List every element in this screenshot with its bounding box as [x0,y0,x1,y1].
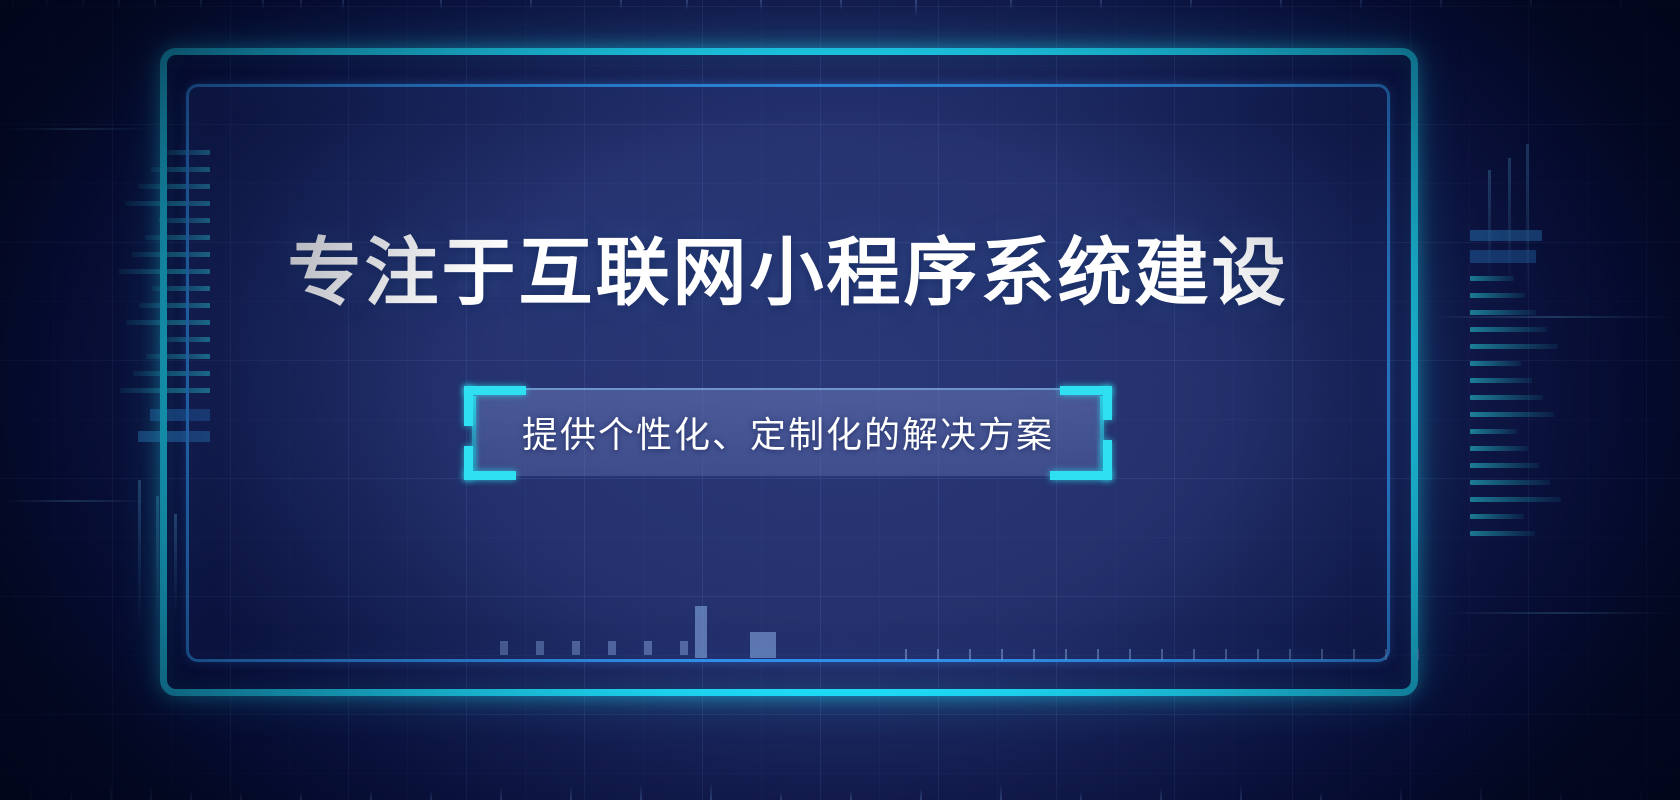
hrule-right-2 [1445,612,1680,614]
tech-banner: 专注于互联网小程序系统建设 提供个性化、定制化的解决方案 [0,0,1680,800]
left-vertical-lines-decoration [132,480,192,670]
hrule-left-2 [0,500,145,502]
subtitle-right-edge-line [1100,396,1104,470]
subtitle-box: 提供个性化、定制化的解决方案 [476,388,1100,476]
right-bar-stack-decoration [1470,230,1562,630]
page-title: 专注于互联网小程序系统建设 [288,236,1289,310]
bottom-tick-marks [0,774,1680,800]
banner-content: 专注于互联网小程序系统建设 提供个性化、定制化的解决方案 [186,84,1390,662]
subtitle-left-edge-line [472,396,476,470]
hrule-right-1 [1430,316,1680,318]
right-vertical-lines-decoration [1480,140,1540,330]
subtitle-block: 提供个性化、定制化的解决方案 [476,388,1100,476]
hrule-left-1 [0,128,150,130]
subtitle-text: 提供个性化、定制化的解决方案 [522,406,1054,458]
top-tick-marks [0,0,1680,26]
